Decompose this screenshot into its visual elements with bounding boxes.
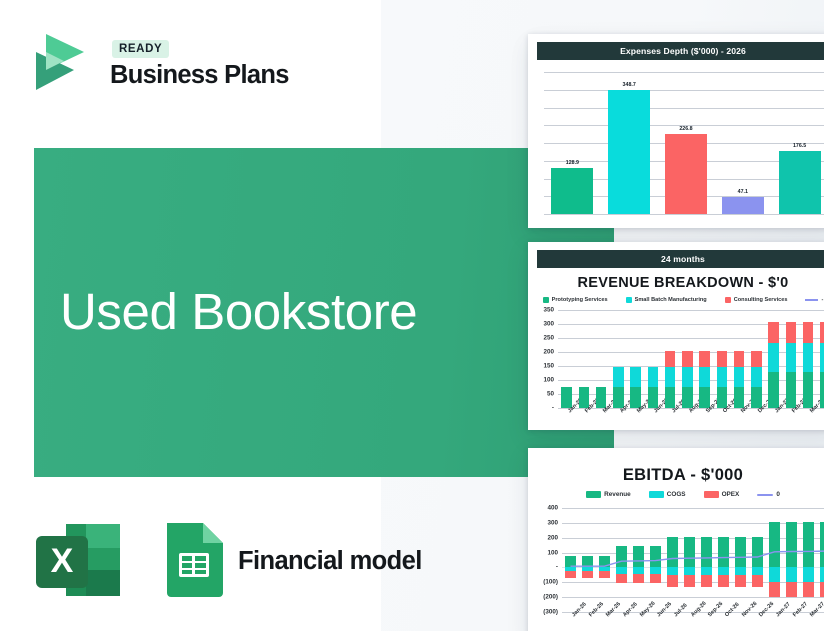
footer-label: Financial model [238,547,422,576]
y-tick-label: (100) [543,579,558,586]
bar [779,151,821,214]
bar [551,168,593,214]
gridline [558,338,824,339]
bar-data-label: 176.5 [779,143,821,149]
slide-canvas: READY Business Plans Used Bookstore X F [0,0,824,631]
bar-segment [630,367,641,387]
gridline [558,324,824,325]
bar-segment [768,372,779,408]
bar-segment [786,343,797,372]
bar-segment [682,351,693,367]
gridline [558,310,824,311]
legend-item: Prototyping Services [543,297,608,303]
play-double-triangle-icon [28,30,92,94]
bar-segment [734,387,745,408]
bar-segment [665,367,676,387]
bar-segment [786,372,797,408]
bar-segment [682,387,693,408]
brand-name: Business Plans [110,61,289,90]
legend-line-swatch [757,494,773,496]
legend-label: Small Batch Manufacturing [635,297,707,303]
bar-segment [751,367,762,387]
y-tick-label: 100 [543,377,554,384]
bar [722,197,764,214]
bar-segment [699,367,710,387]
bar-segment [665,387,676,408]
svg-text:X: X [51,542,74,580]
bar-segment [717,367,728,387]
chart1-header: Expenses Depth ($'000) - 2026 [537,42,824,60]
legend-item: - [805,297,823,303]
y-tick-label: 200 [547,534,558,541]
legend-item: Small Batch Manufacturing [626,297,707,303]
gridline [544,214,824,215]
bar-segment [820,322,824,342]
legend-swatch [725,297,731,303]
chart2-title: REVENUE BREAKDOWN - $'0 [528,275,824,291]
legend-label: - [821,297,823,303]
y-tick-label: 50 [547,391,554,398]
y-tick-label: - [552,405,554,412]
ready-badge: READY [112,40,169,58]
bar-segment [820,343,824,372]
bar-segment [768,343,779,372]
legend-item: COGS [649,491,686,498]
y-tick-label: 200 [543,349,554,356]
bar-segment [751,351,762,367]
legend-label: COGS [667,491,686,498]
y-tick-label: (200) [543,594,558,601]
chart-card-revenue-breakdown[interactable]: 24 months REVENUE BREAKDOWN - $'0 Protot… [528,242,824,430]
gridline [544,72,824,73]
bar-segment [613,387,624,408]
bar-data-label: 226.8 [665,126,707,132]
bar-segment [803,372,814,408]
bar-segment [768,322,779,342]
y-tick-label: 400 [547,505,558,512]
brand-logo: READY Business Plans [24,28,364,96]
bar-data-label: 128.9 [551,160,593,166]
bar-segment [803,343,814,372]
bar-segment [648,367,659,387]
bar-segment [699,351,710,367]
y-tick-label: 300 [543,321,554,328]
chart2-header: 24 months [537,250,824,268]
legend-label: Prototyping Services [552,297,608,303]
legend-label: Revenue [604,491,631,498]
legend-line-swatch [805,299,818,301]
legend-item: Consulting Services [725,297,788,303]
y-tick-label: 350 [543,307,554,314]
bar-data-label: 47.1 [722,189,764,195]
bar-segment [751,387,762,408]
legend-item: OPEX [704,491,740,498]
legend-label: Consulting Services [734,297,788,303]
y-tick-label: (300) [543,609,558,616]
chart3-title: EBITDA - $'000 [528,466,824,485]
chart3-legend: RevenueCOGSOPEX0 [528,491,824,498]
microsoft-excel-icon: X [32,520,128,600]
page-title: Used Bookstore [60,282,417,341]
gridline [544,90,824,91]
bar-segment [682,367,693,387]
hero-block: Used Bookstore [34,148,614,477]
bar-segment [803,322,814,342]
chart1-plot: 128.9348.7226.847.1176.5 [544,72,824,214]
legend-item: 0 [757,491,780,498]
chart-card-ebitda[interactable]: EBITDA - $'000 RevenueCOGSOPEX0 40030020… [528,448,824,631]
legend-swatch [586,491,601,498]
bar-segment [717,351,728,367]
legend-swatch [704,491,719,498]
bar-segment [665,351,676,367]
bar-segment [820,372,824,408]
google-sheets-icon [161,521,227,599]
chart2-legend: Prototyping ServicesSmall Batch Manufact… [528,297,824,303]
bar-data-label: 348.7 [608,82,650,88]
y-tick-label: 250 [543,335,554,342]
chart-card-expenses-depth[interactable]: Expenses Depth ($'000) - 2026 128.9348.7… [528,34,824,228]
bar-segment [786,322,797,342]
bar-segment [596,387,607,408]
bar [665,134,707,215]
legend-label: 0 [776,491,780,498]
bar-segment [613,367,624,387]
y-tick-label: 150 [543,363,554,370]
y-tick-label: 300 [547,519,558,526]
legend-label: OPEX [722,491,740,498]
legend-swatch [626,297,632,303]
chart2-plot: 35030025020015010050-Jan-26Feb-26Mar-26A… [558,310,824,408]
legend-swatch [649,491,664,498]
y-tick-label: 100 [547,549,558,556]
y-tick-label: - [556,564,558,571]
legend-item: Revenue [586,491,631,498]
ebitda-line-series [562,508,824,612]
bar-segment [734,367,745,387]
legend-swatch [543,297,549,303]
bar [608,90,650,214]
chart3-plot: 400300200100-(100)(200)(300)Jan-26Feb-26… [562,508,824,612]
gridline [544,108,824,109]
bar-segment [734,351,745,367]
